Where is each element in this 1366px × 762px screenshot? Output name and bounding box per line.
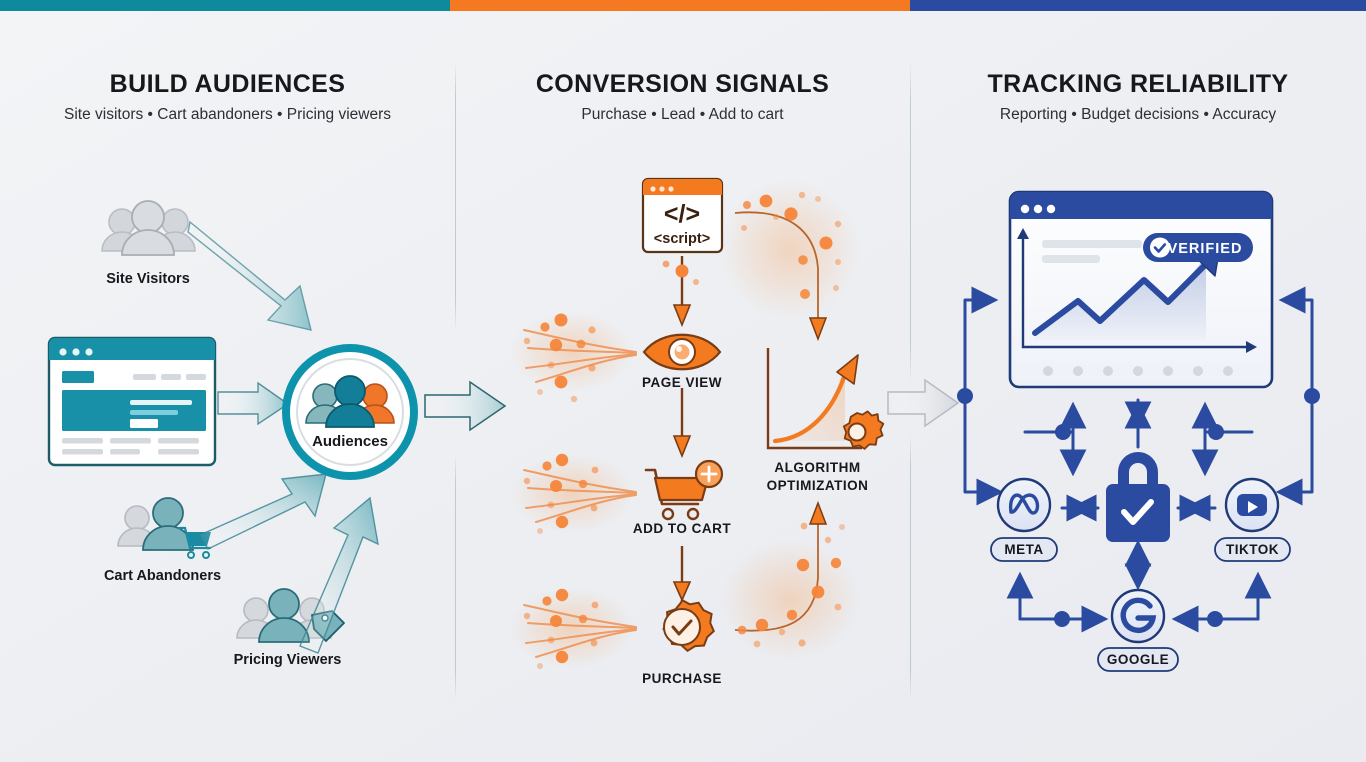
label-google: GOOGLE bbox=[1098, 652, 1178, 667]
svg-text:</>: </> bbox=[664, 200, 700, 228]
subtitle-build-audiences: Site visitors • Cart abandoners • Pricin… bbox=[0, 106, 455, 124]
badge-check-icon bbox=[663, 600, 713, 651]
label-audiences-hub: Audiences bbox=[290, 433, 410, 450]
browser-window-icon bbox=[49, 338, 215, 465]
dashboard-footer-dots bbox=[1043, 366, 1233, 376]
flow-arrow-script-to-pageview bbox=[663, 256, 699, 325]
particle-dots-bottom-path bbox=[738, 523, 845, 648]
label-meta: META bbox=[991, 542, 1057, 557]
column-header-conversion-signals: CONVERSION SIGNALS Purchase • Lead • Add… bbox=[455, 70, 910, 124]
particle-glow-3 bbox=[510, 588, 634, 668]
secure-hub[interactable] bbox=[1106, 452, 1170, 542]
label-add-to-cart: ADD TO CART bbox=[612, 521, 752, 536]
audiences-hub[interactable] bbox=[286, 348, 414, 476]
label-algorithm-optimization-line2: OPTIMIZATION bbox=[745, 478, 890, 493]
flow-arrow-website bbox=[218, 383, 288, 424]
particle-glow-4 bbox=[720, 180, 860, 320]
growth-curve-icon bbox=[768, 348, 862, 448]
analytics-dashboard[interactable]: VERIFIED bbox=[1010, 192, 1272, 387]
signal-path-top bbox=[735, 212, 826, 339]
cart-plus-icon bbox=[646, 461, 722, 519]
routing-network bbox=[965, 300, 1312, 619]
flow-arrow-cart-abandoners bbox=[200, 474, 326, 549]
particle-dots-top-path bbox=[741, 192, 841, 299]
meta-infinity-icon bbox=[1011, 495, 1038, 513]
check-circle-icon bbox=[1150, 238, 1170, 258]
svg-text:VERIFIED: VERIFIED bbox=[1168, 241, 1243, 257]
block-arrow-right-icon-2 bbox=[888, 380, 958, 426]
accent-segment-orange bbox=[450, 0, 910, 11]
eye-icon bbox=[644, 335, 720, 370]
particle-glow-5 bbox=[720, 540, 860, 660]
label-algorithm-optimization-line1: ALGORITHM bbox=[745, 460, 890, 475]
flow-arrow-pageview-to-cart bbox=[674, 388, 690, 456]
routing-nodes bbox=[957, 388, 1320, 627]
status-badge-verified: VERIFIED bbox=[1143, 233, 1253, 262]
lock-check-icon bbox=[1124, 502, 1151, 522]
column-header-tracking-reliability: TRACKING RELIABILITY Reporting • Budget … bbox=[910, 70, 1366, 124]
particle-stream-add-to-cart bbox=[524, 470, 636, 522]
page-title-tracking-reliability: TRACKING RELIABILITY bbox=[910, 70, 1366, 99]
page-title-conversion-signals: CONVERSION SIGNALS bbox=[455, 70, 910, 99]
flow-arrow-cart-to-purchase bbox=[674, 546, 690, 600]
people-cart-icon bbox=[118, 498, 211, 558]
svg-text:<script>: <script> bbox=[654, 231, 710, 247]
subtitle-conversion-signals: Purchase • Lead • Add to cart bbox=[455, 106, 910, 124]
script-window-icon: </> <script> bbox=[643, 179, 722, 252]
column-divider-1b bbox=[455, 455, 456, 700]
accent-segment-teal bbox=[0, 0, 450, 11]
particle-dots-purchase bbox=[524, 589, 599, 669]
label-site-visitors: Site Visitors bbox=[78, 271, 218, 287]
label-pricing-viewers: Pricing Viewers bbox=[215, 652, 360, 668]
google-g-icon bbox=[1123, 600, 1153, 630]
column-divider-2b bbox=[910, 435, 911, 700]
line-chart-rising-icon bbox=[1035, 258, 1212, 333]
accent-bar bbox=[0, 0, 1366, 11]
people-tag-icon bbox=[237, 589, 344, 642]
gear-icon bbox=[844, 411, 884, 449]
flow-arrow-pricing-viewers bbox=[300, 498, 378, 653]
particle-stream-purchase bbox=[524, 605, 636, 657]
people-icon bbox=[102, 201, 195, 255]
particle-dots-page-view bbox=[524, 314, 596, 403]
column-header-build-audiences: BUILD AUDIENCES Site visitors • Cart aba… bbox=[0, 70, 455, 124]
block-arrow-right-icon-1 bbox=[425, 382, 505, 430]
accent-segment-blue bbox=[910, 0, 1366, 11]
label-page-view: PAGE VIEW bbox=[612, 375, 752, 390]
subtitle-tracking-reliability: Reporting • Budget decisions • Accuracy bbox=[910, 106, 1366, 124]
label-cart-abandoners: Cart Abandoners bbox=[90, 568, 235, 584]
particle-dots-add-to-cart bbox=[524, 454, 599, 534]
page-title-build-audiences: BUILD AUDIENCES bbox=[0, 70, 455, 99]
label-tiktok: TIKTOK bbox=[1215, 542, 1290, 557]
label-purchase: PURCHASE bbox=[612, 671, 752, 686]
infographic-canvas: BUILD AUDIENCES Site visitors • Cart aba… bbox=[0, 0, 1366, 762]
video-play-icon bbox=[1237, 494, 1267, 516]
